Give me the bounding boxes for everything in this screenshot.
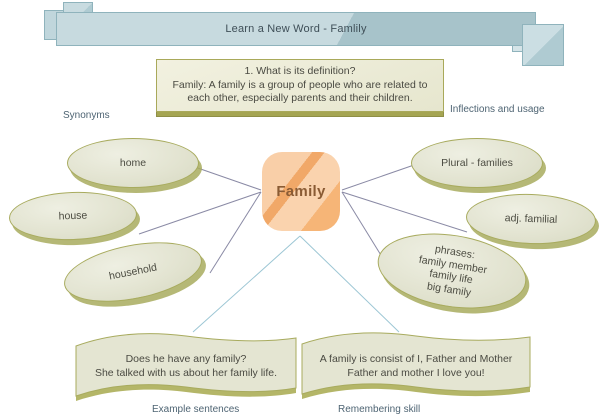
definition-card[interactable]: 1. What is its definition? Family: A fam… (156, 59, 444, 112)
caption-inflections-and-usage: Inflections and usage (450, 104, 545, 115)
definition-line-3: each other, especially parents and their… (187, 92, 412, 106)
node-center-family[interactable]: Family (262, 152, 340, 231)
node-plural[interactable]: Plural - families (411, 138, 543, 188)
node-plural-label: Plural - families (433, 157, 521, 170)
node-house-label: house (50, 209, 95, 223)
ribbon-example-sentences[interactable]: Does he have any family? She talked with… (74, 330, 298, 402)
banner-decor-square-right-front (522, 24, 564, 66)
node-home[interactable]: home (67, 138, 199, 188)
ribbon-shape-remember (300, 330, 532, 402)
definition-line-1: 1. What is its definition? (245, 65, 356, 79)
definition-line-2: Family: A family is a group of people wh… (172, 79, 427, 93)
caption-remembering-skill: Remembering skill (338, 404, 420, 415)
ribbon-shape-example (74, 330, 298, 402)
node-phrases-label: phrases: family member family life big f… (406, 240, 498, 303)
definition-card-base (156, 112, 444, 117)
mindmap-canvas: Learn a New Word - Famlily 1. What is it… (0, 0, 600, 420)
node-adj-familial-label: adj. familial (497, 212, 566, 227)
node-center-family-label: Family (276, 183, 325, 200)
page-title: Learn a New Word - Famlily (225, 23, 366, 35)
title-banner: Learn a New Word - Famlily (44, 2, 564, 64)
caption-synonyms: Synonyms (63, 110, 110, 121)
ribbon-remembering-skill[interactable]: A family is consist of I, Father and Mot… (300, 330, 532, 402)
caption-example-sentences: Example sentences (152, 404, 239, 415)
node-home-label: home (112, 157, 154, 170)
banner-bar: Learn a New Word - Famlily (56, 12, 536, 46)
node-household-label: household (100, 260, 166, 285)
